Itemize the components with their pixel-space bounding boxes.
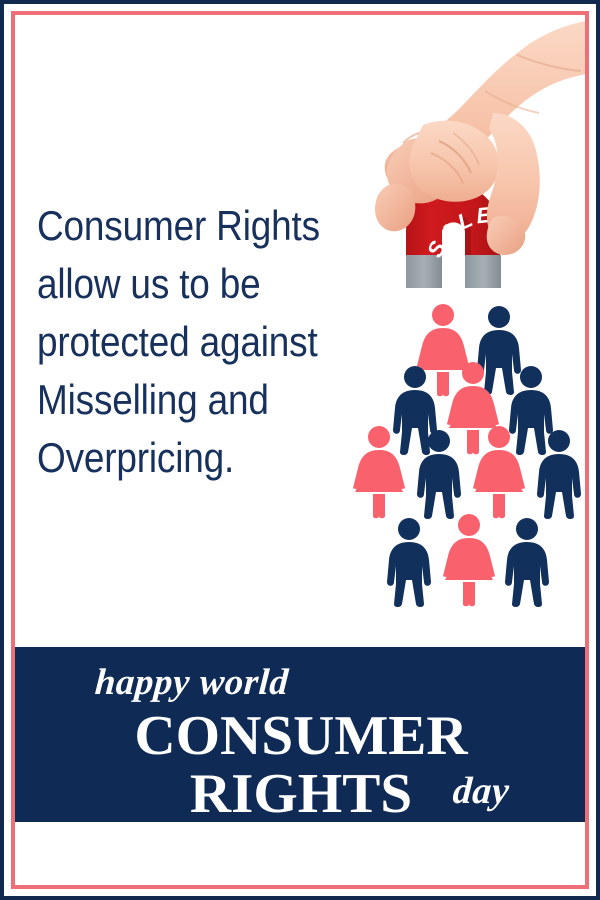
crowd-figure-man bbox=[387, 518, 431, 607]
crowd-figure-man bbox=[505, 518, 549, 607]
crowd-figure-woman bbox=[473, 426, 525, 518]
crowd-figure-woman bbox=[417, 304, 469, 396]
bottom-banner: happy world CONSUMER RIGHTS day bbox=[15, 647, 585, 822]
crowd-figure-man bbox=[477, 306, 521, 395]
crowd-figure-woman bbox=[353, 426, 405, 518]
poster-canvas: Consumer Rights allow us to be protected… bbox=[15, 15, 585, 885]
page-title: Consumer Rights allow us to be protected… bbox=[37, 197, 341, 487]
banner-script-bottom: day bbox=[451, 769, 510, 813]
banner-script-top: happy world bbox=[93, 661, 290, 704]
hand-with-magnet-illustration: SALE bbox=[367, 15, 585, 303]
crowd-illustration bbox=[345, 290, 585, 620]
crowd-figure-man bbox=[509, 366, 553, 455]
poster-root: Consumer Rights allow us to be protected… bbox=[0, 0, 600, 900]
crowd-figure-woman bbox=[443, 514, 495, 606]
